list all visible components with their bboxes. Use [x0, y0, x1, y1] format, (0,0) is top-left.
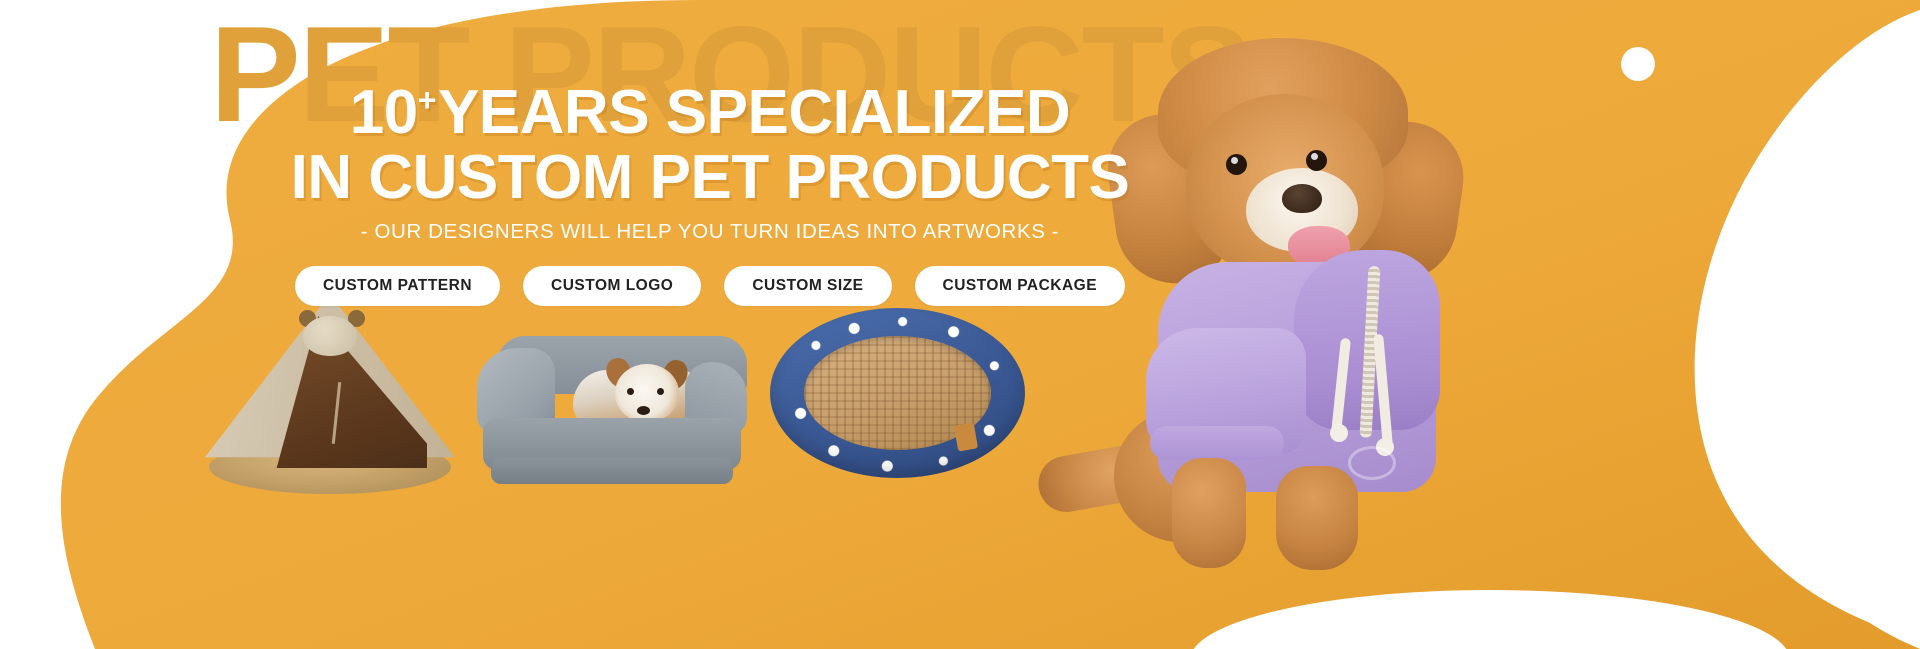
- cooling-mat-brand-tag: [954, 422, 978, 451]
- headline-years-number: 10: [350, 78, 418, 147]
- poodle-front-leg-left: [1172, 458, 1246, 568]
- pill-custom-size[interactable]: CUSTOM SIZE: [724, 266, 891, 306]
- headline-line-2: IN CUSTOM PET PRODUCTS: [0, 149, 1420, 206]
- banner-copy-block: 10+YEARS SPECIALIZED IN CUSTOM PET PRODU…: [0, 84, 1420, 306]
- tagline: - OUR DESIGNERS WILL HELP YOU TURN IDEAS…: [0, 220, 1420, 244]
- pill-custom-pattern[interactable]: CUSTOM PATTERN: [295, 266, 500, 306]
- product-grey-orthopedic-sofa-dog-bed: [477, 336, 747, 486]
- collie-nose: [637, 406, 650, 415]
- collie-eye-right: [657, 388, 664, 395]
- white-dot-icon: [1621, 47, 1655, 81]
- sofa-base: [491, 458, 733, 484]
- collie-eye-left: [627, 388, 634, 395]
- headline-line-1-rest: YEARS SPECIALIZED: [438, 78, 1070, 147]
- custom-option-pill-group: CUSTOM PATTERN CUSTOM LOGO CUSTOM SIZE C…: [0, 266, 1420, 306]
- poodle-hoodie-cuff: [1150, 426, 1284, 460]
- product-blue-cooling-mat-bolster-bed: [770, 308, 1025, 478]
- poodle-hoodie-emblem: [1348, 446, 1396, 480]
- headline-plus-superscript: +: [418, 82, 436, 118]
- poodle-drawstring-knot-left: [1330, 424, 1348, 442]
- teepee-bear-face: [303, 316, 357, 356]
- poodle-front-leg-right: [1276, 466, 1358, 570]
- pill-custom-logo[interactable]: CUSTOM LOGO: [523, 266, 701, 306]
- pet-products-promo-banner: PET PRODUCTS: [0, 0, 1920, 649]
- headline-line-1: 10+YEARS SPECIALIZED: [0, 84, 1420, 141]
- pill-custom-package[interactable]: CUSTOM PACKAGE: [915, 266, 1126, 306]
